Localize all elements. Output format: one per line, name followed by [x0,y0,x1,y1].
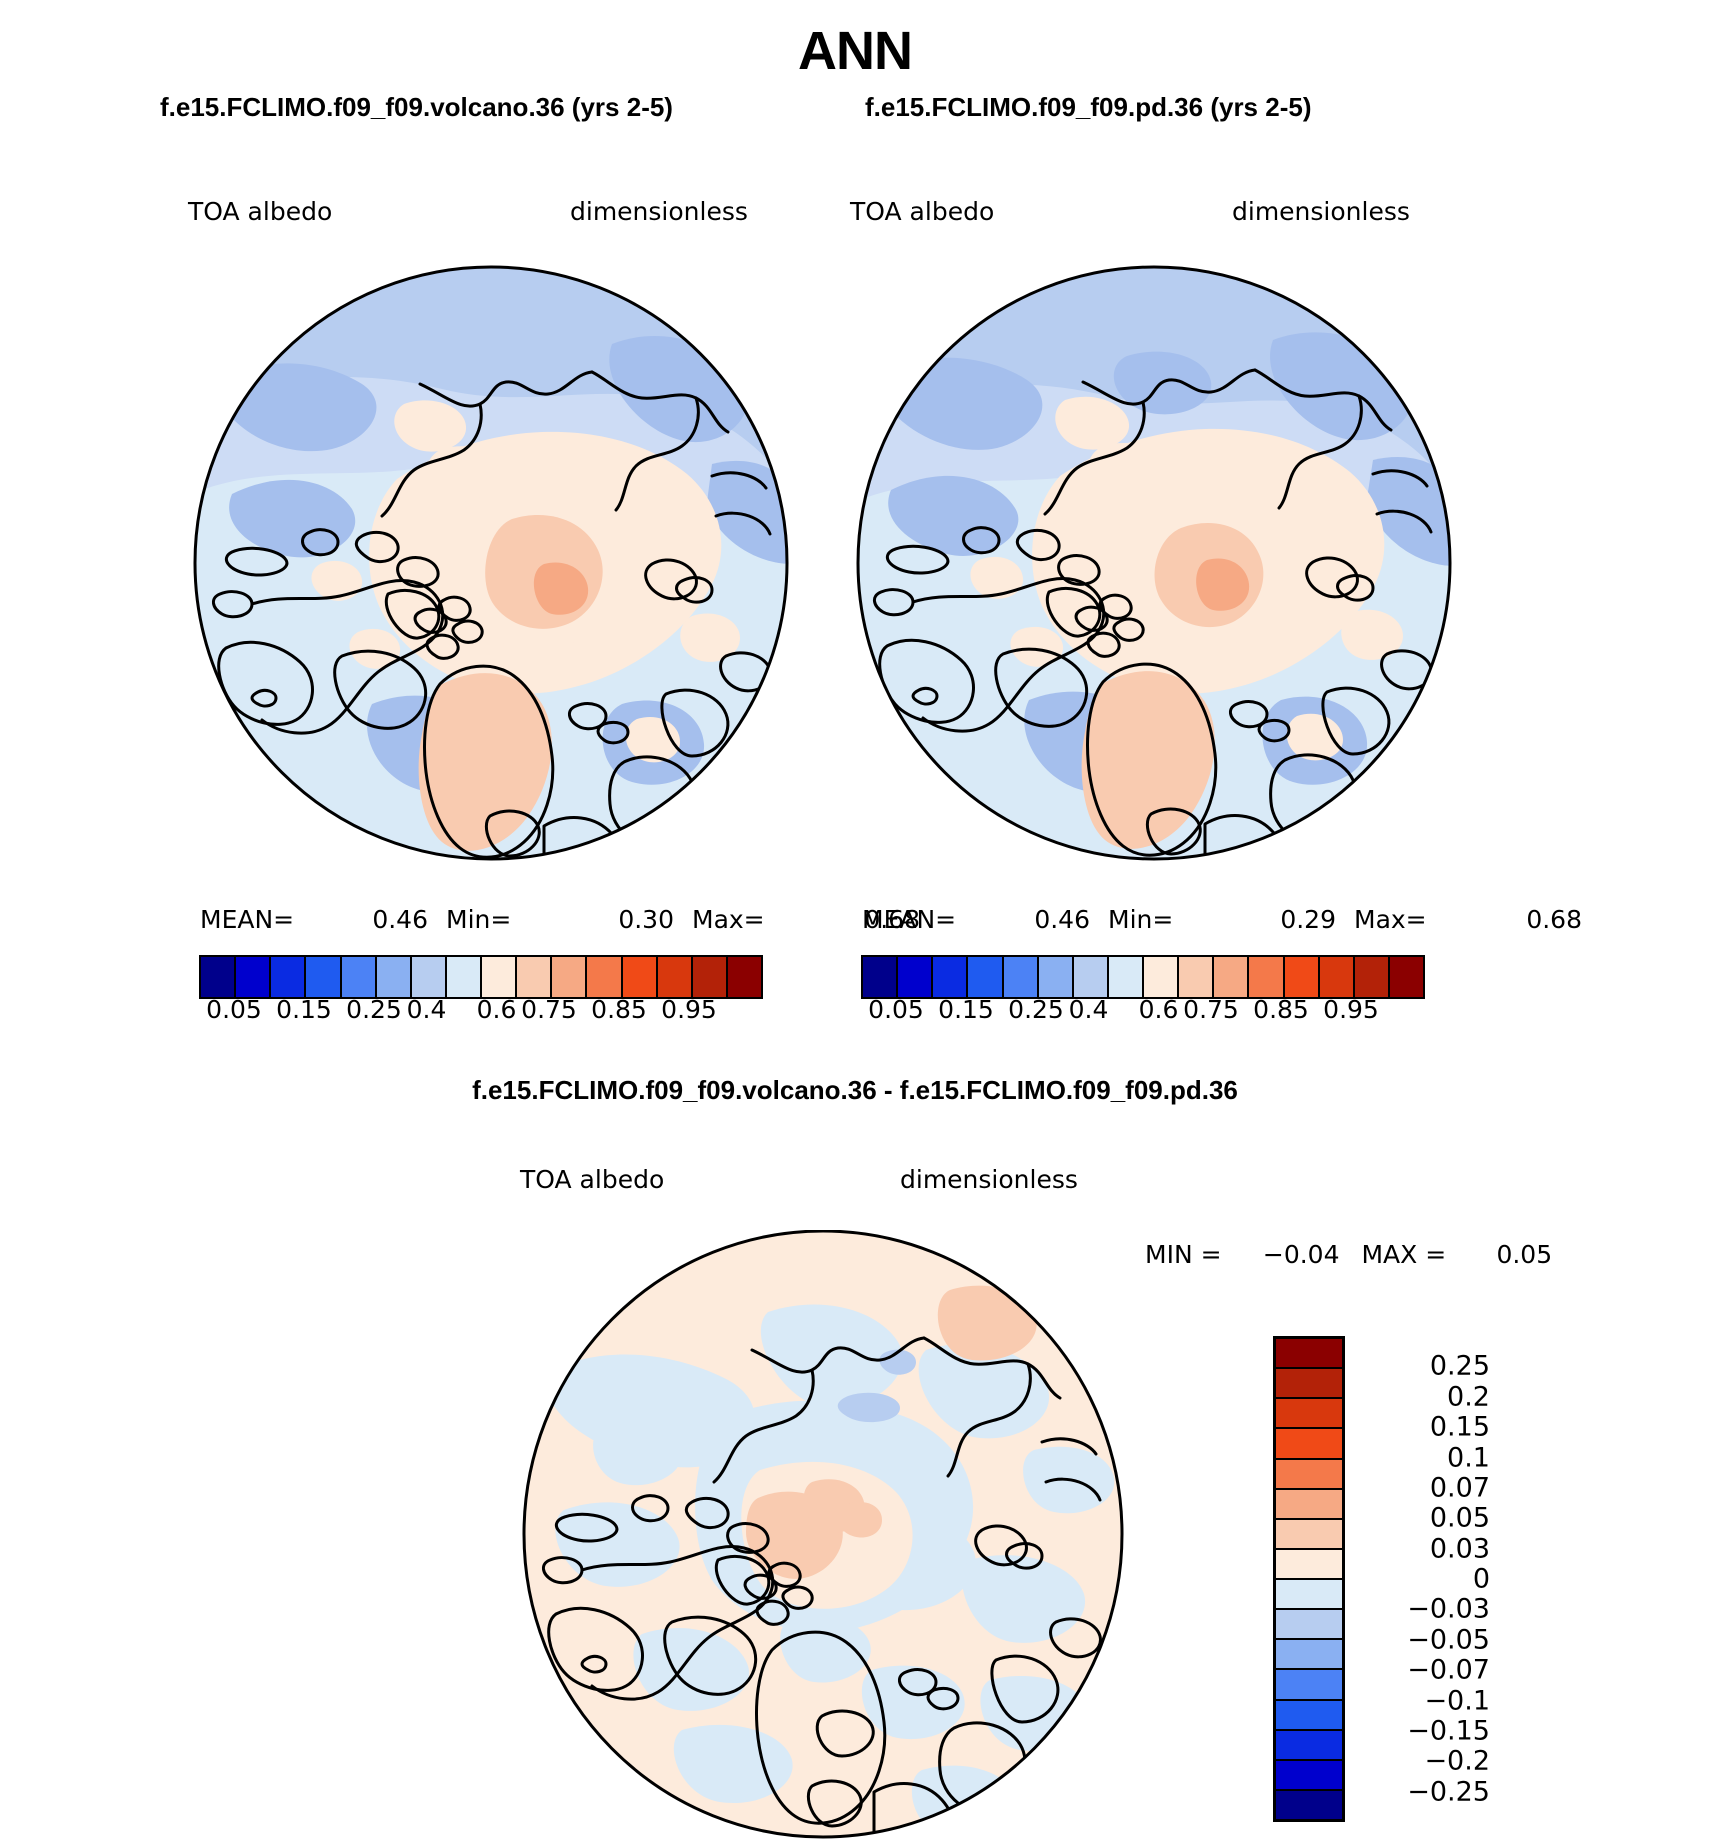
right-max-value: 0.68 [1474,905,1582,934]
colorbar-tick-0: 0.05 [868,995,924,1024]
diff-colorbar-tick-7: 0 [1473,1564,1490,1595]
colorbar-right[interactable] [861,955,1425,999]
left-mean-key: MEAN= [200,905,320,934]
diff-colorbar-cell-3[interactable] [1276,1429,1342,1459]
colorbar-cell-4[interactable] [1004,957,1039,997]
diff-colorbar-cell-6[interactable] [1276,1520,1342,1550]
diff-colorbar-cell-11[interactable] [1276,1670,1342,1700]
difference-minmax: MIN = −0.04 MAX = 0.05 [1145,1240,1552,1269]
right-max-key: Max= [1336,905,1474,934]
diff-colorbar-tick-14: −0.25 [1407,1776,1490,1807]
case-title-right: f.e15.FCLIMO.f09_f09.pd.36 (yrs 2-5) [865,92,1311,123]
colorbar-cell-0[interactable] [863,957,898,997]
colorbar-tick-1: 0.15 [276,995,332,1024]
colorbar-cell-1[interactable] [236,957,271,997]
colorbar-difference[interactable] [1273,1336,1345,1822]
colorbar-cell-8[interactable] [482,957,517,997]
left-mean-value: 0.46 [320,905,428,934]
right-mean-key: MEAN= [862,905,982,934]
colorbar-cell-5[interactable] [377,957,412,997]
colorbar-left-ticks: 0.050.150.250.40.60.750.850.95 [199,995,759,1035]
colorbar-cell-6[interactable] [1074,957,1109,997]
colorbar-tick-1: 0.15 [938,995,994,1024]
colorbar-cell-14[interactable] [693,957,728,997]
colorbar-cell-15[interactable] [728,957,761,997]
diff-max-value: 0.05 [1454,1240,1552,1269]
colorbar-cell-15[interactable] [1390,957,1423,997]
left-panel-units-label: dimensionless [570,197,748,226]
colorbar-cell-1[interactable] [898,957,933,997]
right-min-value: 0.29 [1228,905,1336,934]
diff-max-key: MAX = [1347,1240,1446,1269]
left-max-key: Max= [674,905,812,934]
right-mean-value: 0.46 [982,905,1090,934]
colorbar-tick-7: 0.95 [1323,995,1379,1024]
colorbar-difference-ticks: 0.250.20.150.10.070.050.030−0.03−0.05−0.… [1360,1336,1530,1822]
diff-colorbar-cell-14[interactable] [1276,1761,1342,1791]
right-min-key: Min= [1090,905,1228,934]
colorbar-tick-3: 0.4 [1069,995,1109,1024]
diff-colorbar-cell-4[interactable] [1276,1460,1342,1490]
colorbar-cell-13[interactable] [1320,957,1355,997]
map-left-panel [192,264,792,864]
diff-colorbar-cell-13[interactable] [1276,1731,1342,1761]
diff-colorbar-cell-5[interactable] [1276,1490,1342,1520]
diff-colorbar-tick-2: 0.15 [1430,1412,1490,1443]
diff-colorbar-cell-7[interactable] [1276,1550,1342,1580]
page-title: ANN [0,20,1710,82]
diff-colorbar-cell-12[interactable] [1276,1701,1342,1731]
diff-colorbar-tick-8: −0.03 [1407,1594,1490,1625]
colorbar-cell-11[interactable] [587,957,622,997]
colorbar-cell-0[interactable] [201,957,236,997]
colorbar-cell-9[interactable] [517,957,552,997]
diff-colorbar-cell-2[interactable] [1276,1399,1342,1429]
right-panel-units-label: dimensionless [1232,197,1410,226]
colorbar-cell-10[interactable] [1214,957,1249,997]
diff-colorbar-tick-1: 0.2 [1447,1381,1490,1412]
diff-colorbar-tick-0: 0.25 [1430,1351,1490,1382]
colorbar-cell-12[interactable] [623,957,658,997]
colorbar-cell-8[interactable] [1144,957,1179,997]
diff-colorbar-tick-10: −0.07 [1407,1655,1490,1686]
colorbar-cell-3[interactable] [306,957,341,997]
right-panel-variable-label: TOA albedo [850,197,994,226]
colorbar-cell-4[interactable] [342,957,377,997]
colorbar-tick-5: 0.75 [521,995,577,1024]
difference-title: f.e15.FCLIMO.f09_f09.volcano.36 - f.e15.… [0,1075,1710,1106]
diff-panel-variable-label: TOA albedo [520,1165,664,1194]
diff-colorbar-tick-12: −0.15 [1407,1715,1490,1746]
diff-colorbar-cell-15[interactable] [1276,1791,1342,1819]
left-panel-stats: MEAN=0.46Min=0.30Max=0.68 [200,905,920,934]
map-right-panel [855,264,1455,864]
diff-panel-units-label: dimensionless [900,1165,1078,1194]
diff-colorbar-tick-11: −0.1 [1424,1685,1490,1716]
diff-min-key: MIN = [1145,1240,1222,1269]
colorbar-left[interactable] [199,955,763,999]
diff-colorbar-cell-9[interactable] [1276,1610,1342,1640]
diff-colorbar-cell-0[interactable] [1276,1339,1342,1369]
diff-colorbar-tick-4: 0.07 [1430,1472,1490,1503]
colorbar-tick-5: 0.75 [1183,995,1239,1024]
colorbar-cell-14[interactable] [1355,957,1390,997]
map-difference-panel [522,1230,1126,1840]
colorbar-cell-2[interactable] [271,957,306,997]
colorbar-tick-6: 0.85 [1253,995,1309,1024]
colorbar-cell-7[interactable] [447,957,482,997]
left-min-key: Min= [428,905,566,934]
diff-colorbar-tick-6: 0.03 [1430,1533,1490,1564]
colorbar-tick-2: 0.25 [346,995,402,1024]
colorbar-cell-10[interactable] [552,957,587,997]
colorbar-cell-6[interactable] [412,957,447,997]
colorbar-cell-7[interactable] [1109,957,1144,997]
diff-colorbar-tick-3: 0.1 [1447,1442,1490,1473]
colorbar-cell-13[interactable] [658,957,693,997]
diff-colorbar-cell-1[interactable] [1276,1369,1342,1399]
colorbar-tick-7: 0.95 [661,995,717,1024]
colorbar-cell-2[interactable] [933,957,968,997]
colorbar-cell-3[interactable] [968,957,1003,997]
left-min-value: 0.30 [566,905,674,934]
diff-colorbar-tick-9: −0.05 [1407,1624,1490,1655]
colorbar-tick-0: 0.05 [206,995,262,1024]
colorbar-tick-2: 0.25 [1008,995,1064,1024]
case-title-left: f.e15.FCLIMO.f09_f09.volcano.36 (yrs 2-5… [160,92,673,123]
right-panel-stats: MEAN=0.46Min=0.29Max=0.68 [862,905,1582,934]
colorbar-tick-4: 0.6 [1139,995,1179,1024]
diff-colorbar-tick-13: −0.2 [1424,1746,1490,1777]
diff-min-value: −0.04 [1230,1240,1340,1269]
diff-colorbar-cell-10[interactable] [1276,1640,1342,1670]
diff-colorbar-tick-5: 0.05 [1430,1503,1490,1534]
colorbar-cell-12[interactable] [1285,957,1320,997]
colorbar-tick-6: 0.85 [591,995,647,1024]
left-panel-variable-label: TOA albedo [188,197,332,226]
colorbar-cell-11[interactable] [1249,957,1284,997]
colorbar-cell-5[interactable] [1039,957,1074,997]
colorbar-cell-9[interactable] [1179,957,1214,997]
colorbar-tick-4: 0.6 [477,995,517,1024]
diff-colorbar-cell-8[interactable] [1276,1580,1342,1610]
colorbar-tick-3: 0.4 [407,995,447,1024]
colorbar-right-ticks: 0.050.150.250.40.60.750.850.95 [861,995,1421,1035]
